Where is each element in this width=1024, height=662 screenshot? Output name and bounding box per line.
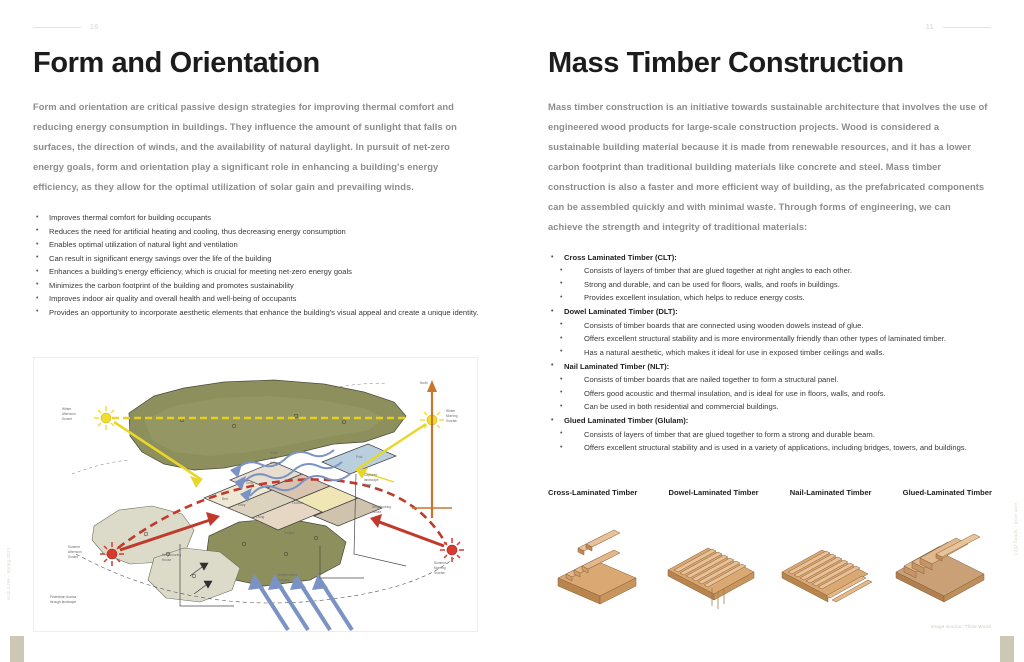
list-item: Can be used in both residential and comm… [548,401,988,413]
svg-text:Edge: Edge [364,483,372,487]
svg-text:Breeze: Breeze [270,461,280,465]
svg-text:Pedestrian Access: Pedestrian Access [50,595,77,599]
margin-note-left: Arch 4199 - Spring 2023 [6,548,11,600]
svg-text:North: North [270,451,278,455]
corner-tab-left [10,636,24,662]
list-item: Offers excellent structural stability an… [548,442,988,454]
list-item: Consists of timber boards that are naile… [548,374,988,386]
svg-text:Outdoor: Outdoor [292,501,304,505]
svg-text:Neighbouring: Neighbouring [278,573,297,577]
left-text-column: Form and Orientation Form and orientatio… [33,48,481,320]
left-intro-paragraph: Form and orientation are critical passiv… [33,97,481,197]
list-item: Improves thermal comfort for building oc… [33,212,481,224]
svg-text:Carpark: Carpark [278,578,290,582]
svg-text:House: House [162,558,171,562]
corner-tab-right [1000,636,1014,662]
timber-caption: Cross-Laminated Timber [548,488,637,497]
right-intro-paragraph: Mass timber construction is an initiativ… [548,97,988,237]
right-text-column: Mass Timber Construction Mass timber con… [548,48,988,456]
svg-text:through landscape: through landscape [50,600,76,604]
timber-types-list: Cross Laminated Timber (CLT):Consists of… [548,252,988,454]
list-item: Provides an opportunity to incorporate a… [33,307,481,319]
cross-laminated-timber-image [548,520,644,612]
svg-text:Sunset: Sunset [68,555,78,559]
list-item: Strong and durable, and can be used for … [548,279,988,291]
winter-afternoon-sunset-icon [94,406,118,430]
list-item-heading: Dowel Laminated Timber (DLT): [548,306,988,318]
svg-text:Afternoon: Afternoon [62,412,76,416]
left-page-title: Form and Orientation [33,48,481,78]
left-page: Form and Orientation Form and orientatio… [0,0,512,662]
margin-note-right: Arch 4199 - Spring 2023 [1013,503,1018,555]
svg-text:Sunrise: Sunrise [446,419,457,423]
svg-text:Bed: Bed [222,497,228,501]
list-item: Has a natural aesthetic, which makes it … [548,347,988,359]
svg-text:Morning: Morning [446,414,458,418]
book-spread: 10 11 Form and Orientation Form and orie… [0,0,1024,662]
list-item: Minimizes the carbon footprint of the bu… [33,280,481,292]
list-item: Provides excellent insulation, which hel… [548,292,988,304]
list-item-heading: Glued Laminated Timber (Glulam): [548,415,988,427]
list-item: Can result in significant energy savings… [33,253,481,265]
list-item: Offers excellent structural stability an… [548,333,988,345]
svg-text:Summer: Summer [434,561,447,565]
svg-text:Sunrise: Sunrise [434,571,445,575]
site-analysis-diagram: WinterAfternoonSunset WinterMorningSunri… [33,357,478,632]
list-item-heading: Nail Laminated Timber (NLT): [548,361,988,373]
svg-text:Neighbouring: Neighbouring [372,505,391,509]
svg-text:Deck: Deck [246,481,254,485]
timber-image-captions: Cross-Laminated TimberDowel-Laminated Ti… [548,488,992,497]
list-item: Improves indoor air quality and overall … [33,293,481,305]
timber-caption: Glued-Laminated Timber [903,488,992,497]
svg-text:Captured: Captured [364,473,377,477]
svg-text:Winter: Winter [446,409,456,413]
svg-text:North: North [420,381,428,385]
right-page-title: Mass Timber Construction [548,48,988,78]
list-item-heading: Cross Laminated Timber (CLT): [548,252,988,264]
svg-text:House: House [372,510,381,514]
svg-text:Pool: Pool [356,455,363,459]
list-item: Consists of layers of timber that are gl… [548,265,988,277]
dowel-laminated-timber-image [660,520,760,612]
list-item: Consists of layers of timber that are gl… [548,429,988,441]
svg-text:Neighbouring: Neighbouring [162,553,181,557]
image-credit: Image Source: Think Wood [931,624,991,629]
summer-sunrise-ray [370,514,444,546]
timber-caption: Nail-Laminated Timber [790,488,872,497]
timber-caption: Dowel-Laminated Timber [668,488,758,497]
svg-text:East: East [270,456,276,460]
svg-text:Sunset: Sunset [62,417,72,421]
glued-laminated-timber-image [892,520,992,612]
svg-text:Afternoon: Afternoon [68,550,82,554]
site-edge-nw [72,460,130,474]
svg-text:Living: Living [256,515,265,519]
left-benefits-list: Improves thermal comfort for building oc… [33,212,481,318]
svg-text:Service: Service [284,531,295,535]
list-item: Consists of timber boards that are conne… [548,320,988,332]
timber-illustrations [548,520,992,620]
nail-laminated-timber-image [776,520,876,612]
north-arrow [412,380,452,518]
site-diagram-svg: WinterAfternoonSunset WinterMorningSunri… [34,358,478,632]
svg-text:Morning: Morning [434,566,446,570]
svg-text:Entry: Entry [238,503,246,507]
svg-text:Summer: Summer [68,545,81,549]
svg-text:landscape: landscape [364,478,379,482]
list-item: Reduces the need for artificial heating … [33,226,481,238]
list-item: Enhances a building's energy efficiency,… [33,266,481,278]
list-item: Enables optimal utilization of natural l… [33,239,481,251]
svg-text:Winter: Winter [62,407,72,411]
summer-morning-sunrise-icon [440,538,464,562]
list-item: Offers good acoustic and thermal insulat… [548,388,988,400]
